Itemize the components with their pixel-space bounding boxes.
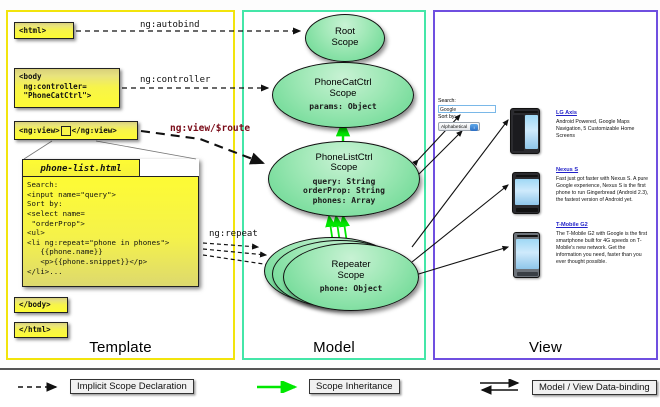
phone-snippet: Android Powered, Google Maps Navigation,… bbox=[556, 119, 652, 140]
phone-text-lg-axis: LG Axis Android Powered, Google Maps Nav… bbox=[556, 110, 652, 140]
view-search-form: Search: Google Sort by: Alphabetical↕ bbox=[438, 98, 498, 131]
scope-root-title: Root Scope bbox=[332, 27, 359, 48]
template-file-name: phone-list.html bbox=[22, 159, 140, 177]
column-label-model: Model bbox=[244, 339, 424, 356]
search-input[interactable]: Google bbox=[438, 105, 496, 113]
phone-image-t-mobile-g2 bbox=[513, 232, 540, 278]
scope-phonelistctrl-title: PhoneListCtrl Scope bbox=[315, 153, 372, 174]
search-label: Search: bbox=[438, 98, 498, 105]
sort-select[interactable]: Alphabetical↕ bbox=[438, 122, 480, 131]
phone-text-t-mobile-g2: T-Mobile G2 The T-Mobile G2 with Google … bbox=[556, 222, 652, 266]
phone-title-link[interactable]: LG Axis bbox=[556, 110, 652, 117]
code-box-body-open: <body ng:controller= "PhoneCatCtrl"> bbox=[14, 68, 120, 108]
scope-root: Root Scope bbox=[305, 14, 385, 62]
phone-title-link[interactable]: Nexus S bbox=[556, 167, 652, 174]
scope-phonecatctrl-title: PhoneCatCtrl Scope bbox=[314, 78, 371, 99]
ngview-placeholder-icon bbox=[61, 126, 71, 136]
scope-phonelistctrl: PhoneListCtrl Scope query: String orderP… bbox=[268, 141, 420, 217]
scope-phonecatctrl-props: params: Object bbox=[309, 102, 376, 111]
green-arrow-icon bbox=[255, 381, 303, 393]
phone-snippet: Fast just got faster with Nexus S. A pur… bbox=[556, 176, 652, 204]
legend-label: Implicit Scope Declaration bbox=[70, 379, 194, 394]
diagram-canvas: Template Model View bbox=[0, 0, 660, 405]
sort-label: Sort by: bbox=[438, 114, 498, 121]
chevron-down-icon: ↕ bbox=[470, 124, 478, 131]
code-box-ngview: <ng:view></ng:view> bbox=[14, 121, 138, 140]
label-ng-repeat: ng:repeat bbox=[209, 229, 258, 239]
label-ng-view-route: ng:view/$route bbox=[170, 123, 250, 134]
legend-item-scope-inheritance: Scope Inheritance bbox=[255, 379, 400, 394]
legend-item-implicit-scope-declaration: Implicit Scope Declaration bbox=[16, 379, 194, 394]
template-file-callout: phone-list.html Search: <input name="que… bbox=[22, 159, 199, 287]
scope-repeater-title: Repeater Scope bbox=[331, 260, 370, 281]
code-box-body-close: </body> bbox=[14, 297, 68, 313]
double-arrow-icon bbox=[478, 379, 526, 395]
dashed-arrow-icon bbox=[16, 381, 64, 393]
phone-image-nexus-s bbox=[512, 172, 540, 214]
phone-text-nexus-s: Nexus S Fast just got faster with Nexus … bbox=[556, 167, 652, 204]
scope-repeater-props: phone: Object bbox=[320, 284, 383, 293]
legend-item-model-view-data-binding: Model / View Data-binding bbox=[478, 379, 657, 395]
phone-snippet: The T-Mobile G2 with Google is the first… bbox=[556, 231, 652, 266]
legend-label: Scope Inheritance bbox=[309, 379, 400, 394]
phone-title-link[interactable]: T-Mobile G2 bbox=[556, 222, 652, 229]
list-item: T-Mobile G2 The T-Mobile G2 with Google … bbox=[0, 0, 27, 46]
label-ng-controller: ng:controller bbox=[140, 75, 210, 85]
column-label-view: View bbox=[435, 339, 656, 356]
scope-repeater: Repeater Scope phone: Object bbox=[283, 243, 419, 311]
sort-select-value: Alphabetical bbox=[441, 125, 467, 130]
template-file-code: Search: <input name="query"> Sort by: <s… bbox=[22, 176, 199, 287]
ngview-close-tag: </ng:view> bbox=[72, 126, 117, 136]
column-label-template: Template bbox=[8, 339, 233, 356]
code-box-html-close: </html> bbox=[14, 322, 68, 338]
phone-image-lg-axis bbox=[510, 108, 540, 154]
legend-label: Model / View Data-binding bbox=[532, 380, 657, 395]
scope-phonecatctrl: PhoneCatCtrl Scope params: Object bbox=[272, 62, 414, 128]
scope-phonelistctrl-props: query: String orderProp: String phones: … bbox=[303, 177, 385, 205]
legend: Implicit Scope Declaration Scope Inherit… bbox=[0, 368, 660, 407]
ngview-open-tag: <ng:view> bbox=[19, 126, 60, 136]
label-ng-autobind: ng:autobind bbox=[140, 20, 200, 30]
